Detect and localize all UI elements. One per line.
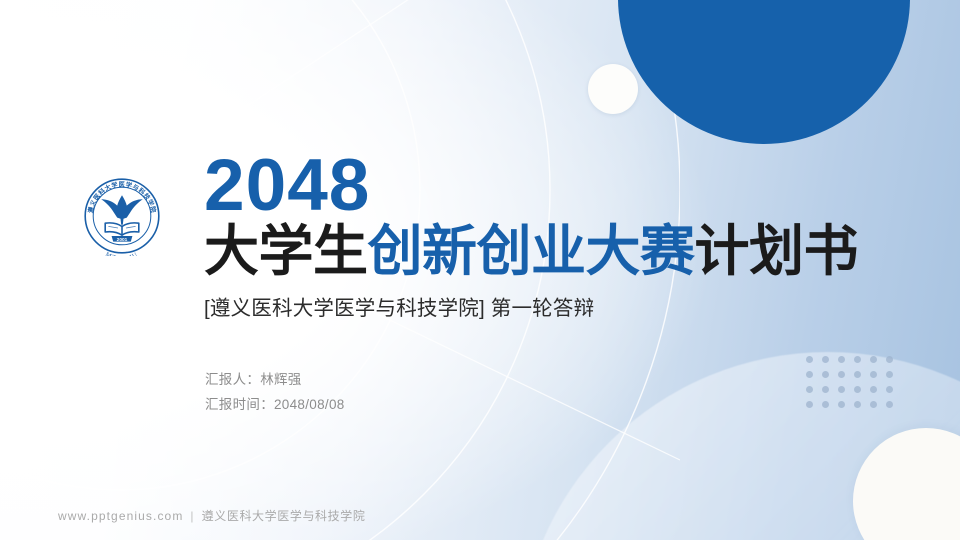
grid-dot	[854, 371, 861, 378]
headline-part-2-highlight: 创新创业大赛	[368, 220, 695, 282]
dove-over-book-icon: 遵义医科大学医学与科技学院 2001 MTCZMU	[82, 176, 162, 261]
logo-year-founded: 2001	[117, 236, 128, 242]
grid-dot	[822, 401, 829, 408]
grid-dot	[838, 401, 845, 408]
grid-dot	[886, 386, 893, 393]
grid-dot	[870, 371, 877, 378]
grid-dot	[854, 356, 861, 363]
dot-grid-decoration	[806, 356, 902, 416]
slide-year: 2048	[204, 152, 904, 221]
presenter-meta: 汇报人：林辉强 汇报时间：2048/08/08	[205, 368, 345, 418]
footer-separator: |	[190, 509, 194, 523]
grid-dot	[870, 386, 877, 393]
grid-dot	[886, 371, 893, 378]
headline-part-1: 大学生	[204, 220, 368, 282]
grid-dot	[822, 371, 829, 378]
grid-dot	[822, 386, 829, 393]
grid-dot	[838, 356, 845, 363]
presentation-slide: 遵义医科大学医学与科技学院 2001 MTCZMU 2048 大学生创新创业大赛…	[0, 0, 960, 540]
grid-dot	[886, 356, 893, 363]
grid-dot	[806, 401, 813, 408]
footer-website[interactable]: www.pptgenius.com	[58, 509, 183, 523]
presenter-name-line: 汇报人：林辉强	[205, 368, 345, 393]
university-logo: 遵义医科大学医学与科技学院 2001 MTCZMU	[74, 170, 170, 266]
presentation-date-line: 汇报时间：2048/08/08	[205, 393, 345, 418]
slide-footer: www.pptgenius.com | 遵义医科大学医学与科技学院	[58, 507, 365, 524]
grid-dot	[806, 386, 813, 393]
grid-dot	[838, 371, 845, 378]
grid-dot	[854, 401, 861, 408]
grid-dot	[822, 356, 829, 363]
grid-dot	[854, 386, 861, 393]
page-title: 大学生创新创业大赛计划书	[204, 222, 904, 280]
headline-part-3: 计划书	[695, 220, 859, 282]
white-accent-dot-shape	[588, 64, 638, 114]
grid-dot	[806, 371, 813, 378]
grid-dot	[838, 386, 845, 393]
grid-dot	[806, 356, 813, 363]
title-block: 2048 大学生创新创业大赛计划书 [遵义医科大学医学与科技学院] 第一轮答辩	[204, 152, 904, 321]
grid-dot	[870, 401, 877, 408]
footer-organization: 遵义医科大学医学与科技学院	[202, 507, 366, 524]
grid-dot	[886, 401, 893, 408]
slide-subtitle: [遵义医科大学医学与科技学院] 第一轮答辩	[204, 291, 904, 321]
grid-dot	[870, 356, 877, 363]
